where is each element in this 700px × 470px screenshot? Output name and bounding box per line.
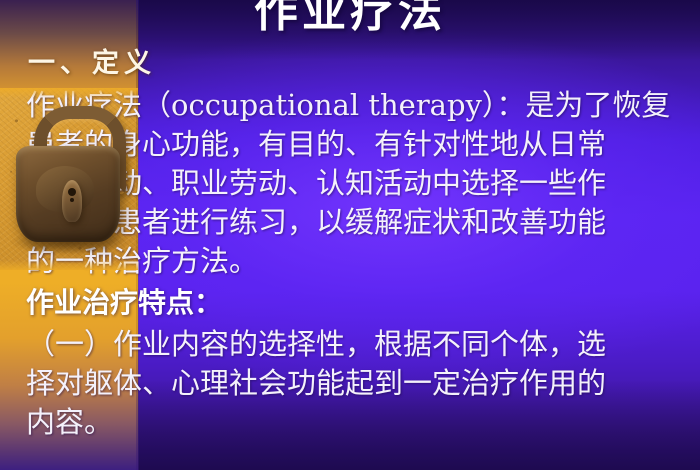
section-heading: 一、定义	[28, 48, 156, 80]
padlock-keyhole-icon	[62, 180, 82, 222]
presentation-slide: 作业疗法 一、定义 作业疗法（occupational therapy）：是为了…	[0, 0, 700, 470]
slide-title: 作业疗法	[0, 0, 700, 36]
feature-line-2: 择对躯体、心理社会功能起到一定治疗作用的	[26, 366, 606, 400]
photo-seam-bottom	[0, 260, 138, 270]
photo-seam-top	[0, 88, 138, 98]
feature-line-3: 内容。	[26, 405, 113, 439]
sub-heading: 作业治疗特点：	[26, 286, 222, 319]
feature-line-1: （一）作业内容的选择性，根据不同个体，选	[26, 327, 606, 361]
